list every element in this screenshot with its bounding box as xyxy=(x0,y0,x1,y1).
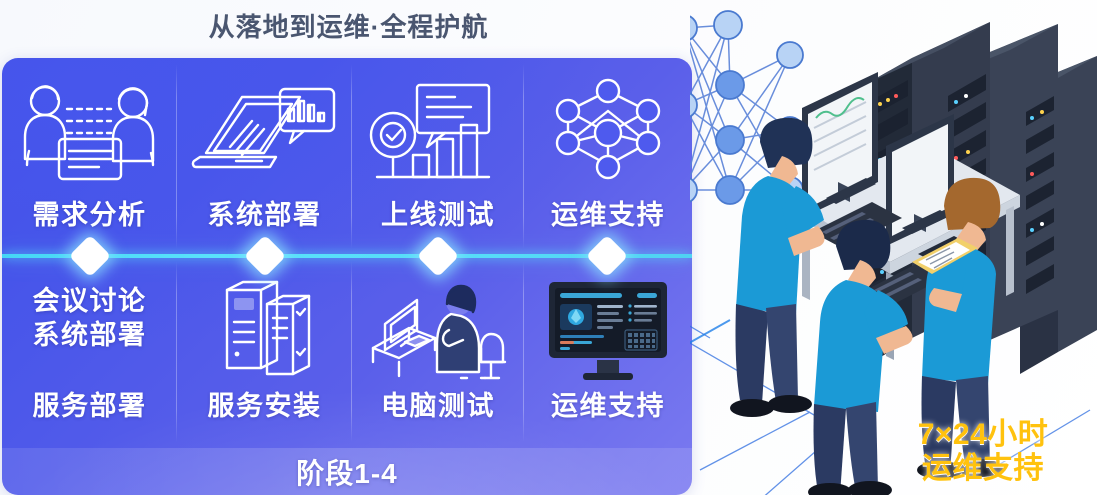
process-cell-system-deploy[interactable]: 系统部署 xyxy=(177,58,352,255)
support-badge-line2: 运维支持 xyxy=(883,453,1083,485)
process-cell-requirements[interactable]: 需求分析 xyxy=(2,58,177,255)
process-cell-ops-support[interactable]: 运维支持 xyxy=(524,58,692,255)
infographic-root: 从落地到运维·全程护航 xyxy=(0,0,1097,495)
datacenter-team-illustration: 7×24小时 运维支持 xyxy=(690,0,1097,495)
cell-label: 系统部署 xyxy=(208,200,322,231)
cell-heading-line1: 会议讨论 xyxy=(33,285,147,319)
network-nodes-icon xyxy=(546,74,671,192)
cell-heading-line2: 系统部署 xyxy=(33,319,147,353)
process-cell-ops-support-bottom[interactable]: 运维支持 xyxy=(524,255,692,448)
dashboard-monitor-icon xyxy=(533,271,683,389)
stage-footer-label: 阶段1-4 xyxy=(296,452,397,492)
page-title: 从落地到运维·全程护航 xyxy=(0,2,697,48)
server-cabinets-icon xyxy=(205,271,325,389)
process-panel: 需求分析 xyxy=(2,58,692,495)
cell-label: 服务安装 xyxy=(208,391,322,422)
support-badge-line1: 7×24小时 xyxy=(883,419,1083,451)
person-at-desk-icon xyxy=(363,271,513,389)
people-discussion-icon xyxy=(15,74,165,192)
test-chart-check-icon xyxy=(363,74,513,192)
cell-heading: 会议讨论 系统部署 xyxy=(33,285,147,353)
cell-label: 需求分析 xyxy=(33,200,147,231)
cell-label: 上线测试 xyxy=(381,200,495,231)
stage-footer: 阶段1-4 xyxy=(2,448,692,495)
cell-label: 电脑测试 xyxy=(381,391,495,422)
cell-label: 运维支持 xyxy=(551,200,665,231)
cell-label: 服务部署 xyxy=(33,391,147,422)
cell-label: 运维支持 xyxy=(551,391,665,422)
process-cell-service-install[interactable]: 服务安装 xyxy=(177,255,352,448)
process-cell-service-deploy[interactable]: 会议讨论 系统部署 服务部署 xyxy=(2,255,177,448)
laptop-chart-icon xyxy=(190,74,340,192)
timeline-divider xyxy=(2,254,692,258)
support-badge: 7×24小时 运维支持 xyxy=(883,419,1083,485)
process-cell-online-test[interactable]: 上线测试 xyxy=(352,58,524,255)
process-cell-computer-test[interactable]: 电脑测试 xyxy=(352,255,524,448)
